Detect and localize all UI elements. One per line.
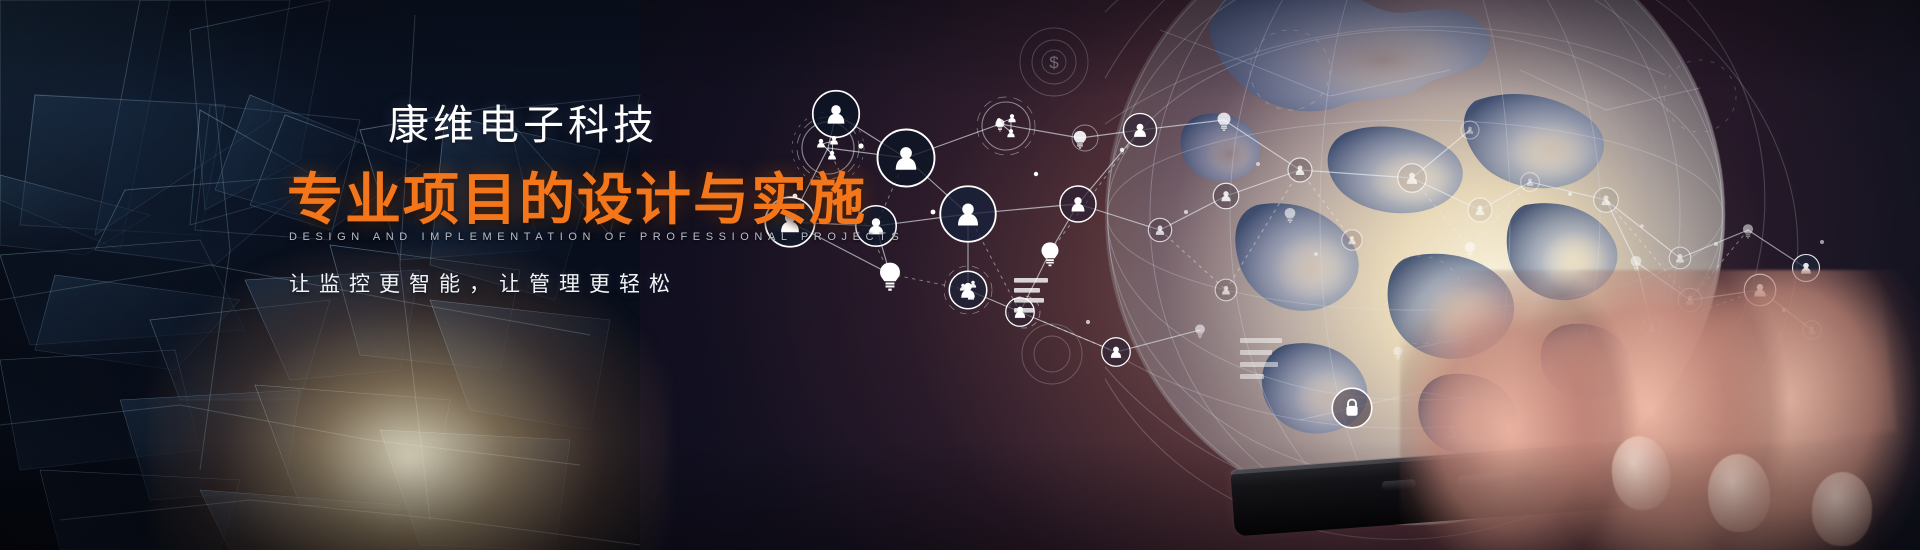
lightbulb-icon	[996, 119, 1005, 131]
lightbulb-icon	[1743, 224, 1753, 238]
headline-subtitle-english: DESIGN AND IMPLEMENTATION OF PROFESSIONA…	[289, 232, 904, 243]
fingernail	[1811, 471, 1874, 547]
tagline: 让监控更智能，让管理更轻松	[289, 274, 679, 295]
lightbulb-icon	[1217, 113, 1230, 131]
company-name: 康维电子科技	[388, 105, 658, 146]
lightbulb-icon	[880, 263, 900, 291]
dollar-icon	[1049, 53, 1059, 72]
hero-banner: $	[0, 0, 1920, 550]
lightbulb-icon	[1074, 131, 1087, 149]
hand-holding-phone-graphic	[1140, 250, 1920, 550]
headline: 专业项目的设计与实施	[287, 172, 867, 228]
lightbulb-icon	[1285, 208, 1296, 223]
banner-copy: 康维电子科技 专业项目的设计与实施 DESIGN AND IMPLEMENTAT…	[0, 0, 820, 550]
